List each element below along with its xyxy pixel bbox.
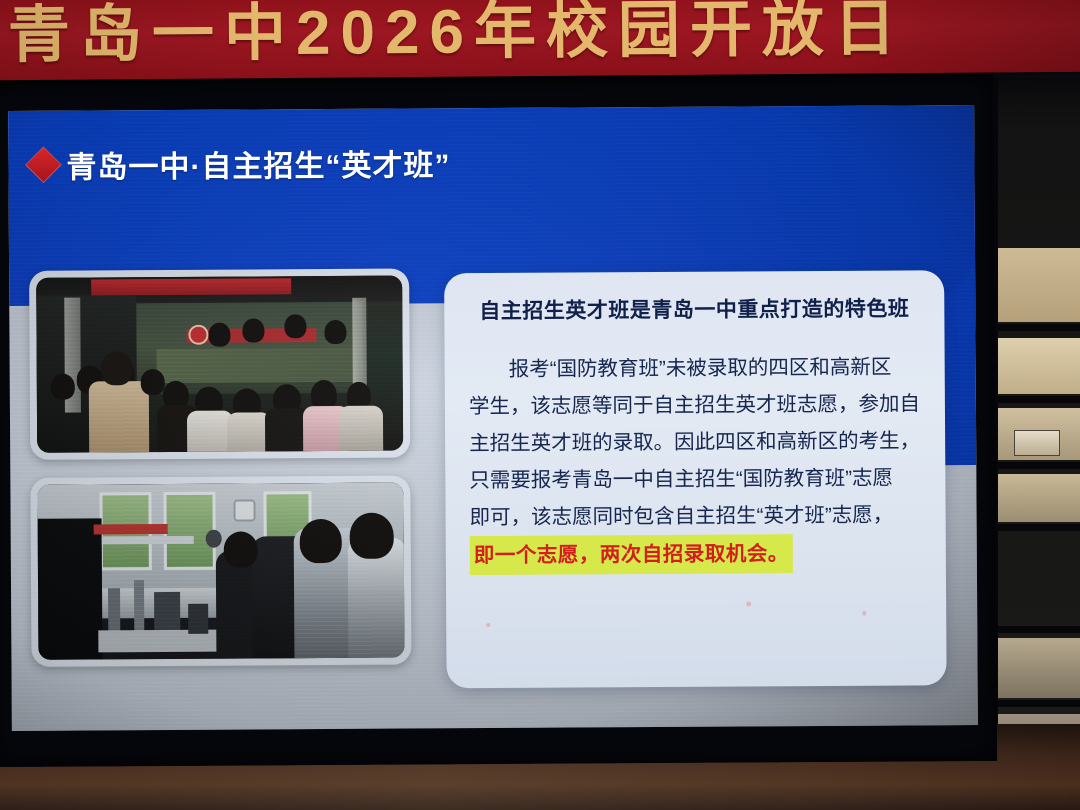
body-line-highlight-wrap: 即一个志愿，两次自招录取机会。 bbox=[470, 533, 922, 575]
highlight-callout: 即一个志愿，两次自招录取机会。 bbox=[470, 534, 793, 575]
slide-title: 青岛一中·自主招生“英才班” bbox=[30, 140, 450, 187]
exterior-window bbox=[984, 78, 1080, 750]
slide-text-panel: 自主招生英才班是青岛一中重点打造的特色班 报考“国防教育班”未被录取的四区和高新… bbox=[444, 270, 947, 688]
air-conditioner-unit bbox=[1014, 430, 1060, 456]
red-diamond-icon bbox=[25, 146, 62, 183]
body-line-4: 只需要报考青岛一中自主招生“国防教育班”志愿 bbox=[469, 459, 921, 499]
panel-body: 报考“国防教育班”未被录取的四区和高新区 学生，该志愿等同于自主招生英才班志愿，… bbox=[469, 348, 922, 575]
slide-title-text: 青岛一中·自主招生“英才班” bbox=[66, 140, 450, 186]
body-line-1: 报考“国防教育班”未被录取的四区和高新区 bbox=[469, 348, 921, 388]
venue-banner: 青岛一中2026年校园开放日 bbox=[0, 0, 1080, 80]
assembly-hall-photo bbox=[36, 276, 403, 453]
led-screen-bezel: 青岛一中·自主招生“英才班” bbox=[0, 71, 997, 767]
assembly-hall-photo-card bbox=[29, 269, 410, 460]
laboratory-photo bbox=[37, 483, 404, 660]
presentation-slide: 青岛一中·自主招生“英才班” bbox=[8, 105, 978, 731]
body-line-5: 即可，该志愿同时包含自主招生“英才班”志愿， bbox=[469, 496, 921, 536]
venue-banner-text: 青岛一中2026年校园开放日 bbox=[8, 0, 907, 78]
laboratory-photo-card bbox=[30, 476, 411, 667]
body-line-2: 学生，该志愿等同于自主招生英才班志愿，参加自 bbox=[469, 385, 921, 425]
panel-heading: 自主招生英才班是青岛一中重点打造的特色班 bbox=[468, 292, 920, 325]
photo-column bbox=[29, 269, 412, 685]
projection-room-scene: 青岛一中·自主招生“英才班” bbox=[0, 0, 1080, 810]
body-line-3: 主招生英才班的录取。因此四区和高新区的考生， bbox=[469, 422, 921, 462]
